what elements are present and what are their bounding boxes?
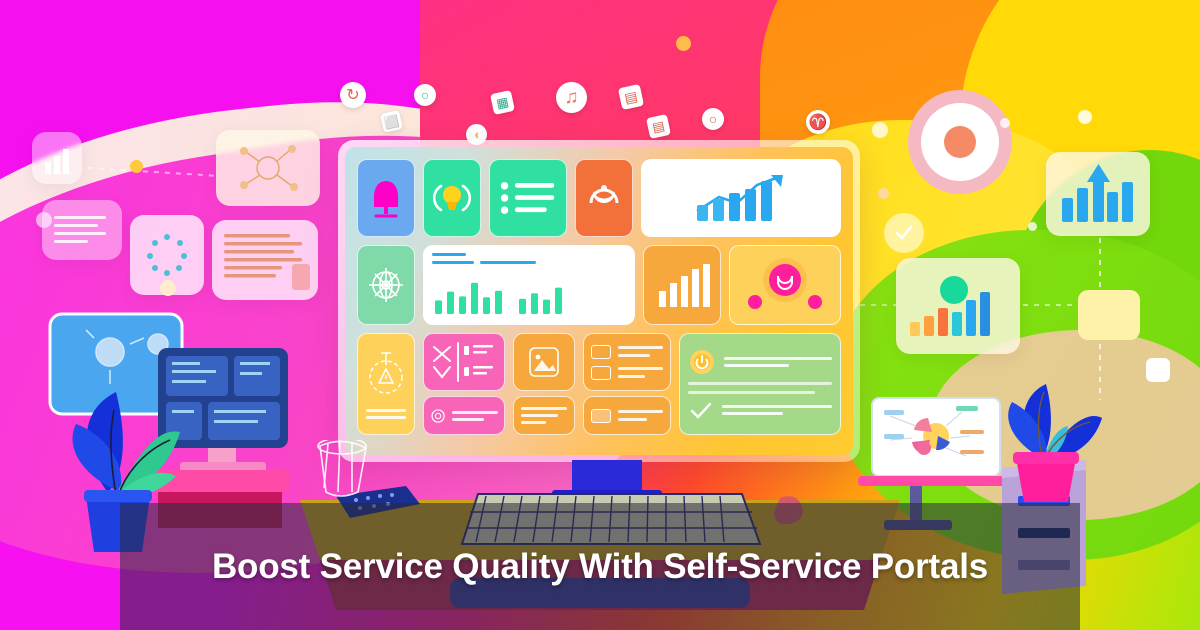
main-monitor — [338, 140, 860, 462]
calendar-icon: ▤ — [646, 114, 671, 139]
tile-support[interactable] — [575, 159, 633, 237]
image-placeholder-icon — [527, 345, 561, 379]
text-document-icon — [212, 220, 318, 300]
tile-list[interactable] — [489, 159, 567, 237]
tile-gauge[interactable] — [357, 333, 415, 435]
check-circle-badge — [884, 213, 924, 253]
empty-yellow-card — [1078, 290, 1140, 340]
monitor-screen — [345, 147, 853, 455]
potted-plant-right — [1008, 384, 1102, 502]
dashboard-row-1 — [357, 159, 841, 237]
dial-gauge — [908, 90, 1012, 194]
tile-avatar[interactable] — [357, 159, 415, 237]
tile-bars-orange[interactable] — [643, 245, 721, 325]
bar-chart-report-card — [432, 270, 568, 314]
poster-canvas: ↻⬜○◖▦♫▤▤○♈ — [0, 0, 1200, 630]
dial-center — [944, 126, 976, 158]
decor-dot — [676, 36, 691, 51]
color-bars-card — [896, 258, 1020, 354]
gauge-dial-icon — [363, 349, 409, 403]
tile-workflow-group — [423, 333, 505, 435]
tile-globe[interactable] — [357, 245, 415, 325]
checkmark-icon — [688, 400, 714, 420]
shuffle-checklist-icon — [428, 337, 500, 387]
network-nodes-icon — [216, 130, 320, 206]
tile-image-caption[interactable] — [513, 396, 575, 435]
bar-chart-up-arrow-icon — [1046, 152, 1150, 236]
circle-ring-icon-2: ○ — [702, 108, 724, 130]
wire-basket — [318, 440, 366, 496]
decor-dot — [1078, 110, 1092, 124]
circle-ring-icon: ○ — [414, 84, 436, 106]
tile-feed-item[interactable] — [583, 396, 671, 435]
user-circle-icon — [735, 254, 835, 316]
refresh-circle-icon — [430, 404, 446, 428]
clipboard-icon: ▤ — [618, 84, 644, 110]
decor-dot — [878, 188, 889, 199]
headset-icon — [583, 177, 625, 219]
page-title: Boost Service Quality With Self-Service … — [160, 547, 1040, 586]
filter-icon: ♈ — [806, 110, 830, 134]
tile-image-group — [513, 333, 575, 435]
decor-dot — [1000, 118, 1010, 128]
ascending-bars-icon — [653, 259, 711, 311]
tile-user-circle[interactable] — [729, 245, 841, 325]
bullet-list-icon — [498, 176, 558, 220]
blue-bars-card — [1046, 152, 1150, 236]
photo-icon: ▦ — [490, 90, 515, 115]
tile-workflow-status[interactable] — [423, 396, 505, 435]
chat-bubble-icon: ⬜ — [380, 110, 403, 133]
decor-dot — [872, 122, 888, 138]
lightbulb-icon — [428, 174, 476, 222]
network-diagram-card — [216, 130, 320, 206]
document-card — [212, 220, 318, 300]
tile-workflow[interactable] — [423, 333, 505, 391]
power-circle-icon — [688, 348, 716, 376]
decor-dot — [130, 160, 143, 173]
tile-idea[interactable] — [423, 159, 481, 237]
person-avatar-icon — [366, 175, 406, 221]
check-circle-icon — [892, 221, 916, 245]
dashboard-row-3 — [357, 333, 841, 435]
tile-image[interactable] — [513, 333, 575, 391]
tile-bar-report[interactable] — [423, 245, 635, 325]
decor-dot — [160, 280, 176, 296]
decor-dot — [1028, 222, 1037, 231]
bar-chart-icon — [32, 132, 82, 184]
monitor-neck — [572, 460, 642, 494]
tile-growth-chart[interactable] — [641, 159, 841, 237]
bar-chart-arrow-up-icon — [685, 167, 797, 229]
dashboard-row-2 — [357, 245, 841, 325]
refresh-icon: ↻ — [340, 82, 366, 108]
tile-verified[interactable] — [679, 333, 841, 435]
bar-chart-badge — [32, 132, 82, 184]
multicolor-bar-chart-icon — [896, 258, 1020, 354]
globe-target-icon — [362, 261, 410, 309]
tile-feed-group — [583, 333, 671, 435]
document-lines-icon — [42, 200, 122, 260]
decor-dot — [36, 212, 52, 228]
music-note-icon: ♫ — [556, 82, 587, 113]
text-lines-card — [42, 200, 122, 260]
tile-feed-list[interactable] — [583, 333, 671, 391]
title-overlay-band: Boost Service Quality With Self-Service … — [120, 503, 1080, 630]
